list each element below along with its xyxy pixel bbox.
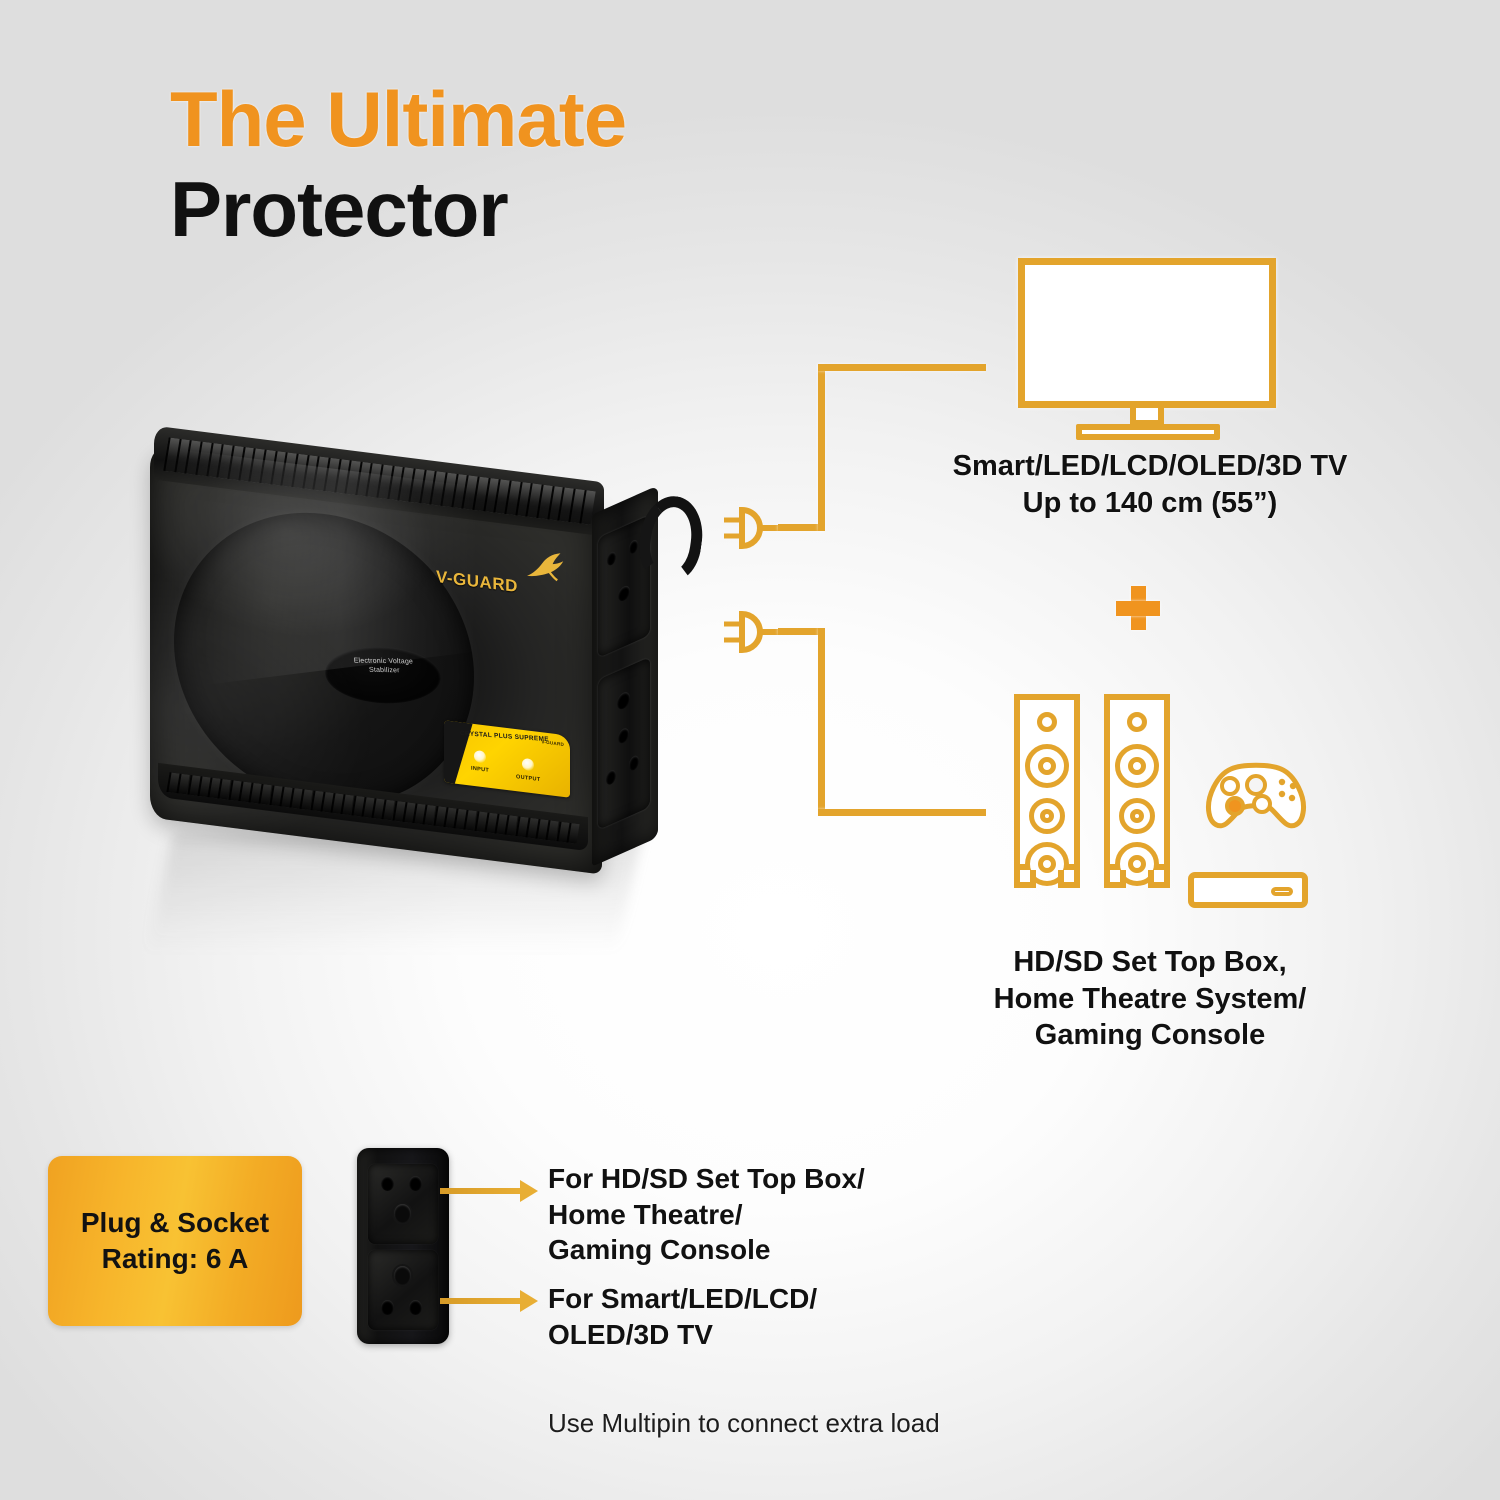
socket-plate-closeup — [357, 1148, 449, 1344]
wire-av-vertical — [818, 628, 825, 816]
tv-caption: Smart/LED/LCD/OLED/3D TV Up to 140 cm (5… — [880, 448, 1420, 521]
product-image-voltage-stabilizer: Electronic Voltage Stabilizer V-GUARD — [140, 452, 700, 902]
input-led-icon — [474, 750, 486, 763]
kangaroo-icon — [521, 551, 570, 582]
socket-callout-lower-line-2: OLED/3D TV — [548, 1317, 1008, 1353]
television-icon — [1018, 258, 1290, 448]
game-controller-icon — [1200, 757, 1312, 833]
speaker-right-foot-right — [1148, 870, 1170, 888]
footer-note: Use Multipin to connect extra load — [548, 1408, 940, 1439]
arrow-to-lower-socket-label — [440, 1298, 522, 1304]
av-caption-line-3: Gaming Console — [900, 1017, 1400, 1054]
tv-caption-line-1: Smart/LED/LCD/OLED/3D TV — [880, 448, 1420, 485]
av-caption-line-1: HD/SD Set Top Box, — [900, 944, 1400, 981]
wire-av-horizontal-lower — [818, 809, 986, 816]
plug-icon-av — [718, 604, 782, 660]
speaker-left-cabinet — [1014, 694, 1080, 870]
rating-badge: Plug & Socket Rating: 6 A — [48, 1156, 302, 1326]
socket-callout-lower-line-1: For Smart/LED/LCD/ — [548, 1281, 1008, 1317]
wire-tv-horizontal-upper — [818, 364, 986, 371]
speaker-right-foot-left — [1104, 870, 1126, 888]
speaker-icon-right — [1104, 694, 1170, 894]
headline-line-1: The Ultimate — [170, 82, 626, 156]
av-caption: HD/SD Set Top Box, Home Theatre System/ … — [900, 944, 1400, 1054]
set-top-box-indicator — [1271, 887, 1293, 896]
wire-tv-vertical — [818, 364, 825, 531]
plus-icon — [1116, 586, 1160, 630]
socket-callout-upper-line-3: Gaming Console — [548, 1232, 1008, 1268]
speaker-right-cabinet — [1104, 694, 1170, 870]
rating-badge-line-2: Rating: 6 A — [81, 1241, 269, 1277]
socket-callout-upper-line-1: For HD/SD Set Top Box/ — [548, 1161, 1008, 1197]
infographic-canvas: The Ultimate Protector Electronic Voltag… — [0, 0, 1500, 1500]
socket-lower — [368, 1250, 438, 1330]
tv-caption-line-2: Up to 140 cm (55”) — [880, 485, 1420, 522]
av-caption-line-2: Home Theatre System/ — [900, 981, 1400, 1018]
socket-callout-upper-line-2: Home Theatre/ — [548, 1197, 1008, 1233]
page-title: The Ultimate Protector — [170, 82, 626, 248]
socket-callout-lower: For Smart/LED/LCD/ OLED/3D TV — [548, 1281, 1008, 1352]
output-led-label: OUTPUT — [516, 774, 540, 783]
rating-badge-text: Plug & Socket Rating: 6 A — [81, 1205, 269, 1278]
rating-badge-line-1: Plug & Socket — [81, 1205, 269, 1241]
socket-callout-upper: For HD/SD Set Top Box/ Home Theatre/ Gam… — [548, 1161, 1008, 1268]
headline-line-2: Protector — [170, 170, 626, 248]
speaker-left-foot-right — [1058, 870, 1080, 888]
socket-upper — [368, 1164, 438, 1244]
tv-screen — [1018, 258, 1276, 408]
set-top-box-icon — [1188, 872, 1308, 908]
stabilizer-socket-lower — [598, 657, 650, 830]
input-led-label: INPUT — [471, 766, 489, 774]
output-led-icon — [522, 758, 534, 771]
arrow-to-upper-socket-label — [440, 1188, 522, 1194]
speaker-icon-left — [1014, 694, 1080, 894]
tv-stand-base — [1076, 424, 1220, 440]
plug-icon-tv — [718, 500, 782, 556]
speaker-left-foot-left — [1014, 870, 1036, 888]
